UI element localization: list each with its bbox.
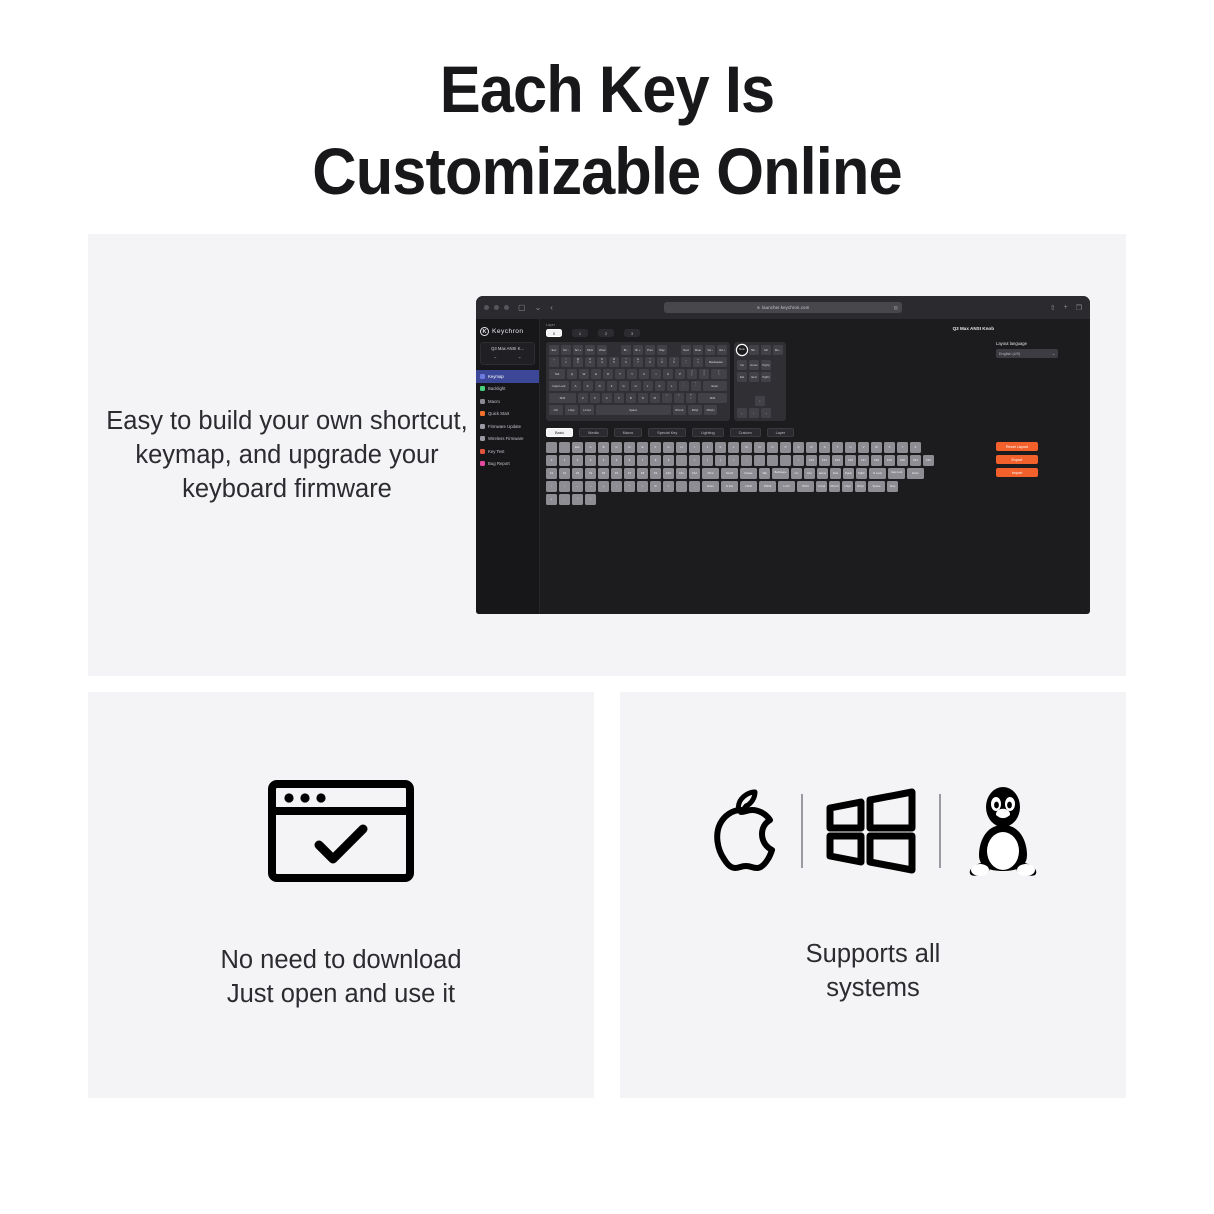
layer-tab-0[interactable]: 0 (546, 329, 562, 337)
picker-key-scroll[interactable]: Scroll (721, 468, 738, 479)
picker-key-enter[interactable]: Enter (702, 481, 719, 492)
keycap-[interactable]: += (693, 357, 703, 367)
keycap-home[interactable]: Home (749, 360, 759, 370)
picker-key-f3[interactable]: F3 (572, 468, 583, 479)
picker-key-backspace[interactable]: Backspace (772, 468, 789, 479)
keycap-br-[interactable]: Br - (621, 345, 631, 355)
keycap-w[interactable]: W (579, 369, 589, 379)
sidebar-item-label: Wireless Firmware (488, 436, 524, 441)
picker-key--[interactable]: ` (559, 442, 570, 453)
picker-key-r[interactable]: R (806, 442, 817, 453)
url-bar[interactable]: ⊕ launcher.keychron.com ▤ (664, 302, 902, 313)
picker-tab-special-key[interactable]: Special Key (648, 428, 686, 437)
keycap-lopt[interactable]: LOpt (565, 405, 579, 415)
keycap-gap (609, 345, 619, 355)
rocket-icon (480, 411, 485, 416)
layer-tabs: 0123 (546, 329, 1084, 337)
wireless-icon (480, 436, 485, 441)
sidebar-item-label: Keymap (488, 374, 504, 379)
keycap--[interactable]: ↓ (749, 408, 759, 418)
keycap-knob[interactable]: Mute (737, 345, 747, 355)
sidebar-item-wireless-firmware[interactable]: Wireless Firmware (476, 433, 539, 446)
picker-key--[interactable]: * (624, 481, 635, 492)
keycap--[interactable]: ↑ (755, 396, 765, 406)
picker-key-end[interactable]: End (830, 468, 841, 479)
picker-key-f5[interactable]: F5 (598, 468, 609, 479)
picker-key-f13[interactable]: F13 (806, 455, 817, 466)
keyboard-row: EscScr -Scr +MCtlLPadBr -Br +PrevPlayNex… (549, 345, 727, 355)
picker-key--[interactable]: = (663, 481, 674, 492)
picker-key-c[interactable]: C (611, 442, 622, 453)
layout-panel: Layout language English (US) ⌄ Reset Lay… (996, 341, 1084, 477)
chevron-left-icon[interactable]: ‹ (550, 304, 553, 312)
app-window-screenshot: ▢ ⌄ ‹ ⊕ launcher.keychron.com ▤ ⇧ + ❐ (476, 296, 1090, 614)
picker-key-rcmd[interactable]: RCmd (829, 481, 840, 492)
picker-key--[interactable]: ↑ (546, 481, 557, 492)
keycap-b[interactable]: B (626, 393, 636, 403)
feature-card-no-download-caption: No need to download Just open and use it (220, 943, 461, 1011)
keycap-ctrl[interactable]: Ctrl (549, 405, 563, 415)
keyboard-row: ↑ (737, 396, 783, 406)
layout-language-value: English (US) (999, 352, 1020, 356)
picker-key-3[interactable]: 3 (585, 455, 596, 466)
picker-key-f20[interactable]: F20 (897, 455, 908, 466)
keycap-del[interactable]: Del (737, 372, 747, 382)
picker-key-6[interactable]: 6 (624, 455, 635, 466)
picker-key-a[interactable]: A (585, 442, 596, 453)
sidebar-item-label: Bug Report (488, 461, 510, 466)
picker-key--[interactable]: [ (702, 455, 713, 466)
bug-icon (480, 461, 485, 466)
keycap-y[interactable]: Y (627, 369, 637, 379)
picker-key-v[interactable]: V (858, 442, 869, 453)
picker-key--[interactable]: . (676, 481, 687, 492)
picker-key-i[interactable]: I (689, 442, 700, 453)
picker-key--[interactable]: ← (572, 481, 583, 492)
keyboard-row: MuteSlb...SiriMo... (737, 345, 783, 355)
app-body: K Keychron Q3 Max ANSI K... ⌁ ⌁ KeymapBa… (476, 319, 1090, 614)
apple-icon (703, 786, 779, 876)
download-icon (480, 424, 485, 429)
picker-tab-macro[interactable]: Macro (614, 428, 643, 437)
keycap-siri[interactable]: Siri (761, 345, 771, 355)
keycap-ropt[interactable]: ROpt (688, 405, 702, 415)
keycap-[interactable]: |\ (711, 369, 727, 379)
keycap-tab[interactable]: Tab (549, 369, 565, 379)
feature-card-all-systems: Supports all systems (620, 692, 1126, 1098)
picker-key-enter[interactable]: Enter (907, 468, 924, 479)
keycap-6[interactable]: ^6 (621, 357, 631, 367)
bulb-icon (480, 386, 485, 391)
picker-key-f10[interactable]: F10 (663, 468, 674, 479)
picker-key-5[interactable]: 5 (611, 455, 622, 466)
macro-icon (480, 399, 485, 404)
picker-key-8[interactable]: 8 (650, 455, 661, 466)
keycap-caps-lock[interactable]: Caps Lock (549, 381, 569, 391)
keycap-k[interactable]: K (655, 381, 665, 391)
picker-key-l[interactable]: L (728, 442, 739, 453)
picker-key--[interactable]: / (585, 494, 596, 505)
picker-key-n[interactable]: N (754, 442, 765, 453)
picker-key-f12[interactable]: F12 (689, 468, 700, 479)
sidebar-item-quick-start[interactable]: Quick Start (476, 408, 539, 421)
chevron-down-icon[interactable]: ⌄ (535, 304, 542, 312)
keycap-rcmd[interactable]: RCmd (673, 405, 687, 415)
cards-grid: Easy to build your own shortcut, keymap,… (88, 234, 1126, 1098)
keycap-mute[interactable]: Mute (693, 345, 703, 355)
picker-key--[interactable]: / (637, 481, 648, 492)
picker-key-lopt[interactable]: LOpt (842, 481, 853, 492)
picker-key-w[interactable]: W (871, 442, 882, 453)
keycap-[interactable]: _- (681, 357, 691, 367)
keycap-scr-[interactable]: Scr - (561, 345, 571, 355)
keyboard-row: InsHomePgUp (737, 360, 783, 370)
keycap-pgup[interactable]: PgUp (761, 360, 771, 370)
picker-key-g[interactable]: G (663, 442, 674, 453)
picker-key--[interactable]: + (598, 481, 609, 492)
picker-tab-lighting[interactable]: Lighting (692, 428, 723, 437)
picker-key-o[interactable]: O (767, 442, 778, 453)
layer-tab-2[interactable]: 2 (598, 329, 614, 337)
picker-key-esc[interactable]: Esc (572, 442, 583, 453)
browser-check-icon (267, 779, 415, 883)
app-main: Layer 0123 Q3 Max ANSI Knob EscScr -Scr … (540, 319, 1090, 614)
caption-line-2: systems (806, 971, 941, 1005)
picker-key-ins[interactable]: Ins (791, 468, 802, 479)
picker-key-n-lock[interactable]: N Lock (869, 468, 886, 479)
layer-tab-1[interactable]: 1 (572, 329, 588, 337)
keycap-lpad[interactable]: LPad (597, 345, 607, 355)
picker-key-f14[interactable]: F14 (819, 455, 830, 466)
picker-key-d[interactable]: D (624, 442, 635, 453)
layout-action-buttons: Reset LayoutExportImport (996, 442, 1084, 477)
device-card[interactable]: Q3 Max ANSI K... ⌁ ⌁ (480, 342, 535, 365)
sidebar-item-label: Key Test (488, 449, 504, 454)
picker-key--[interactable]: - (559, 494, 570, 505)
keycap-s[interactable]: S (583, 381, 593, 391)
picker-key--[interactable]: ' (754, 455, 765, 466)
picker-key-7[interactable]: 7 (637, 455, 648, 466)
picker-key--[interactable]: , (767, 455, 778, 466)
picker-key--[interactable]: + (546, 494, 557, 505)
picker-key--[interactable]: . (780, 455, 791, 466)
clipboard-icon (480, 449, 485, 454)
keycap-p[interactable]: P (675, 369, 685, 379)
layer-label: Layer (546, 323, 555, 327)
app-sidebar: K Keychron Q3 Max ANSI K... ⌁ ⌁ KeymapBa… (476, 319, 540, 614)
keycap-slb-[interactable]: Slb... (749, 345, 759, 355)
keycap-0[interactable]: )0 (669, 357, 679, 367)
picker-key-s[interactable]: S (819, 442, 830, 453)
keycap-scr-[interactable]: Scr + (573, 345, 583, 355)
picker-key-f15[interactable]: F15 (832, 455, 843, 466)
keycap-3[interactable]: #3 (585, 357, 595, 367)
keycap-5[interactable]: %5 (609, 357, 619, 367)
keycap-br-[interactable]: Br + (633, 345, 643, 355)
keycap-shift[interactable]: Shift (549, 393, 576, 403)
url-text: launcher.keychron.com (762, 305, 809, 310)
keycap-end[interactable]: End (749, 372, 759, 382)
keycap-vol-[interactable]: Vol - (705, 345, 715, 355)
keycap-pgdn[interactable]: PgDn (761, 372, 771, 382)
picker-tab-basic[interactable]: Basic (546, 428, 573, 437)
sidebar-icon[interactable]: ▢ (518, 304, 526, 312)
keycap-mctl[interactable]: MCtl (585, 345, 595, 355)
picker-key-0[interactable]: 0 (546, 455, 557, 466)
export-button[interactable]: Export (996, 455, 1038, 464)
sidebar-item-macro[interactable]: Macro (476, 395, 539, 408)
picker-key--[interactable]: , (689, 481, 700, 492)
layer-tab-3[interactable]: 3 (624, 329, 640, 337)
import-button[interactable]: Import (996, 468, 1038, 477)
page-title-line-1: Each Key Is (42, 48, 1171, 130)
keyboard-row: DelEndPgDn (737, 372, 783, 382)
picker-key-ropt[interactable]: ROpt (855, 481, 866, 492)
keycap-c[interactable]: C (602, 393, 612, 403)
picker-key--[interactable]: ] (715, 455, 726, 466)
keycap-n[interactable]: N (638, 393, 648, 403)
keycap-j[interactable]: J (643, 381, 653, 391)
traffic-lights[interactable] (484, 305, 509, 310)
picker-row: +-*/ (546, 494, 1084, 505)
os-icons-row (703, 785, 1043, 877)
keycap-[interactable]: :; (679, 381, 689, 391)
picker-key-pgup[interactable]: PgUp (843, 468, 854, 479)
picker-key-blank[interactable] (546, 442, 557, 453)
keycap-g[interactable]: G (619, 381, 629, 391)
keychron-k-icon: K (480, 327, 489, 336)
picker-key-f8[interactable]: F8 (637, 468, 648, 479)
chevron-down-icon: ⌄ (1052, 351, 1055, 356)
keycap-esc[interactable]: Esc (549, 345, 559, 355)
picker-key--[interactable]: * (572, 494, 583, 505)
feature-card-no-download: No need to download Just open and use it (88, 692, 594, 1098)
keycap-f[interactable]: F (607, 381, 617, 391)
keycap-shift[interactable]: Shift (698, 393, 727, 403)
keyboard-row: ←↓→ (737, 408, 783, 418)
sidebar-nav: KeymapBacklightMacroQuick StartFirmware … (476, 370, 539, 470)
keyboard-icon (480, 374, 485, 379)
picker-key--[interactable]: - (611, 481, 622, 492)
keyboard-row: ShiftZXCVBNM<,>.?/Shift (549, 393, 727, 403)
picker-key-lcmd[interactable]: LCmd (816, 481, 827, 492)
keycap-2[interactable]: @2 (573, 357, 583, 367)
keycap-e[interactable]: E (591, 369, 601, 379)
caption-line-1: Supports all (806, 937, 941, 971)
keycap-m[interactable]: M (650, 393, 660, 403)
picker-key-f18[interactable]: F18 (871, 455, 882, 466)
keycap-[interactable]: <, (662, 393, 672, 403)
picker-key--[interactable]: ; (741, 455, 752, 466)
keycap-prev[interactable]: Prev (645, 345, 655, 355)
caption-line-2: Just open and use it (220, 977, 461, 1011)
picker-key-2[interactable]: 2 (572, 455, 583, 466)
picker-key-rshift[interactable]: RShift (759, 481, 776, 492)
picker-key-t[interactable]: T (832, 442, 843, 453)
keyboard-nav-cluster: MuteSlb...SiriMo...InsHomePgUpDelEndPgDn… (734, 342, 786, 421)
picker-key-f2[interactable]: F2 (559, 468, 570, 479)
sidebar-item-key-test[interactable]: Key Test (476, 445, 539, 458)
keycap-[interactable]: {[ (687, 369, 697, 379)
keycap-o[interactable]: O (663, 369, 673, 379)
keycap-mo-1-[interactable]: MO(1) (704, 405, 718, 415)
sidebar-item-bug-report[interactable]: Bug Report (476, 458, 539, 471)
keycap-v[interactable]: V (614, 393, 624, 403)
browser-toolbar-right: ⇧ + ❐ (1050, 304, 1082, 312)
device-icons: ⌁ ⌁ (483, 355, 532, 361)
picker-key--[interactable]: % (650, 481, 661, 492)
picker-key-x[interactable]: X (884, 442, 895, 453)
keycap-1[interactable]: !1 (561, 357, 571, 367)
picker-key-f4[interactable]: F4 (585, 468, 596, 479)
picker-key-q[interactable]: Q (793, 442, 804, 453)
feature-card-customizable: Easy to build your own shortcut, keymap,… (88, 234, 1126, 676)
keycap-enter[interactable]: Enter (703, 381, 727, 391)
picker-key-f9[interactable]: F9 (650, 468, 661, 479)
picker-key-f19[interactable]: F19 (884, 455, 895, 466)
sidebar-item-label: Firmware Update (488, 424, 521, 429)
keycap-play[interactable]: Play (657, 345, 667, 355)
picker-key--[interactable]: ↓ (559, 481, 570, 492)
picker-key-k[interactable]: K (715, 442, 726, 453)
tabs-icon[interactable]: ❐ (1076, 304, 1082, 312)
layout-language-label: Layout language (996, 341, 1084, 346)
picker-key-pause[interactable]: Pause (740, 468, 757, 479)
keycap-d[interactable]: D (595, 381, 605, 391)
keycap-q[interactable]: Q (567, 369, 577, 379)
picker-key-m[interactable]: M (741, 442, 752, 453)
picker-key--[interactable]: \ (728, 455, 739, 466)
picker-key-1[interactable]: 1 (559, 455, 570, 466)
picker-key--[interactable]: - (676, 455, 687, 466)
keycap-4[interactable]: $4 (597, 357, 607, 367)
cards-row-2: No need to download Just open and use it (88, 692, 1126, 1098)
keycap-t[interactable]: T (615, 369, 625, 379)
keycap-backspace[interactable]: Backspace (705, 357, 727, 367)
keycap-l[interactable]: L (667, 381, 677, 391)
picker-key-home[interactable]: Home (817, 468, 828, 479)
keycap-[interactable]: >. (674, 393, 684, 403)
picker-tab-media[interactable]: Media (579, 428, 607, 437)
picker-key-caps-lock[interactable]: Caps Lock (888, 468, 905, 479)
keyboard-main-block: EscScr -Scr +MCtlLPadBr -Br +PrevPlayNex… (546, 342, 730, 421)
keycap-space[interactable]: Space (596, 405, 671, 415)
keycap-8[interactable]: *8 (645, 357, 655, 367)
picker-key-h[interactable]: H (676, 442, 687, 453)
keycap-r[interactable]: R (603, 369, 613, 379)
share-icon[interactable]: ⇧ (1050, 304, 1056, 312)
picker-key-f7[interactable]: F7 (624, 468, 635, 479)
keycap-[interactable]: }] (699, 369, 709, 379)
page-title: Each Key Is Customizable Online (42, 0, 1171, 212)
picker-key-lctrl[interactable]: LCtrl (778, 481, 795, 492)
globe-icon: ⊕ (757, 305, 760, 310)
sidebar-item-backlight[interactable]: Backlight (476, 383, 539, 396)
picker-key-9[interactable]: 9 (663, 455, 674, 466)
picker-key-f17[interactable]: F17 (858, 455, 869, 466)
keycap-h[interactable]: H (631, 381, 641, 391)
picker-key-f[interactable]: F (650, 442, 661, 453)
picker-key-b[interactable]: B (598, 442, 609, 453)
keycap-next[interactable]: Next (681, 345, 691, 355)
feature-card-all-systems-caption: Supports all systems (806, 937, 941, 1005)
keycap-9[interactable]: (9 (657, 357, 667, 367)
picker-key--[interactable]: → (585, 481, 596, 492)
picker-key-n-dot[interactable]: N Dot (721, 481, 738, 492)
picker-key-u[interactable]: U (845, 442, 856, 453)
keycap-[interactable]: ?/ (686, 393, 696, 403)
picker-key-y[interactable]: Y (897, 442, 908, 453)
keycap--[interactable]: → (761, 408, 771, 418)
picker-key-f11[interactable]: F11 (676, 468, 687, 479)
device-name: Q3 Max ANSI K... (483, 346, 532, 351)
picker-key-p[interactable]: P (780, 442, 791, 453)
sidebar-item-firmware-update[interactable]: Firmware Update (476, 420, 539, 433)
keycap-mo-[interactable]: Mo... (773, 345, 783, 355)
keyboard-row: TabQWERTYUIOP{[}]|\ (549, 369, 727, 379)
brand-label: Keychron (492, 328, 523, 335)
plus-icon[interactable]: + (1064, 304, 1068, 312)
reader-icon[interactable]: ▤ (894, 305, 898, 311)
bluetooth-icon: ⌁ (518, 355, 521, 361)
keyboard-row: ~`!1@2#3$4%5^6&7*8(9)0_-+=Backspace (549, 357, 727, 367)
picker-key-f1[interactable]: F1 (546, 468, 557, 479)
keyboard-row: Caps LockASDFGHJKL:;"'Enter (549, 381, 727, 391)
picker-tab-layer[interactable]: Layer (767, 428, 795, 437)
picker-key-rctrl[interactable]: RCtrl (797, 481, 814, 492)
keycap-7[interactable]: &7 (633, 357, 643, 367)
browser-toolbar: ▢ ⌄ ‹ ⊕ launcher.keychron.com ▤ ⇧ + ❐ (476, 296, 1090, 319)
picker-key-e[interactable]: E (637, 442, 648, 453)
keycap-x[interactable]: X (590, 393, 600, 403)
picker-key-lshift[interactable]: LShift (740, 481, 757, 492)
sidebar-item-label: Backlight (488, 386, 505, 391)
keycap-u[interactable]: U (639, 369, 649, 379)
layout-language-select[interactable]: English (US) ⌄ (996, 349, 1058, 358)
keycap--[interactable]: ← (737, 408, 747, 418)
keycap-vol-[interactable]: Vol + (717, 345, 727, 355)
picker-tab-custom[interactable]: Custom (730, 428, 761, 437)
sidebar-item-keymap[interactable]: Keymap (476, 370, 539, 383)
picker-key-pgdn[interactable]: PgDn (856, 468, 867, 479)
picker-key--[interactable]: = (689, 455, 700, 466)
picker-key-f21[interactable]: F21 (910, 455, 921, 466)
picker-key-del[interactable]: Del (804, 468, 815, 479)
keycap-ins[interactable]: Ins (737, 360, 747, 370)
picker-key-stop[interactable]: Stop (887, 481, 898, 492)
keycap-z[interactable]: Z (578, 393, 588, 403)
picker-key-z[interactable]: Z (910, 442, 921, 453)
picker-key--[interactable]: / (793, 455, 804, 466)
brand: K Keychron (476, 324, 539, 342)
picker-key-4[interactable]: 4 (598, 455, 609, 466)
keycap-i[interactable]: I (651, 369, 661, 379)
picker-key-f6[interactable]: F6 (611, 468, 622, 479)
picker-key-space[interactable]: Space (868, 481, 885, 492)
keycap-[interactable]: "' (691, 381, 701, 391)
sidebar-item-label: Quick Start (488, 411, 509, 416)
divider (939, 794, 941, 868)
keycap-lcmd[interactable]: LCmd (580, 405, 594, 415)
reset-layout-button[interactable]: Reset Layout (996, 442, 1038, 451)
picker-key-f16[interactable]: F16 (845, 455, 856, 466)
picker-key-f22[interactable]: F22 (923, 455, 934, 466)
picker-key-print[interactable]: Print (702, 468, 719, 479)
keycap-a[interactable]: A (571, 381, 581, 391)
picker-key-tab[interactable]: Tab (759, 468, 770, 479)
picker-key-j[interactable]: J (702, 442, 713, 453)
keycap-[interactable]: ~` (549, 357, 559, 367)
